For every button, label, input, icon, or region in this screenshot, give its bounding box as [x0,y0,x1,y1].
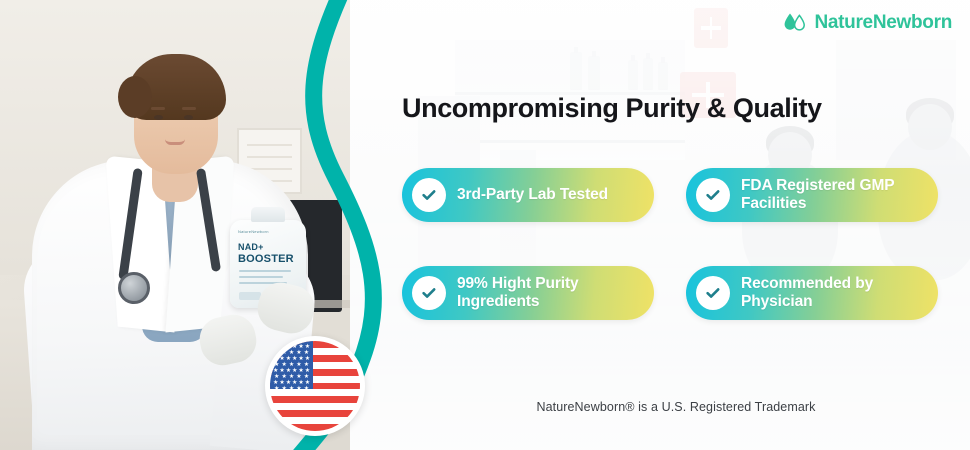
trust-badge-label: 99% Hight Purity Ingredients [457,275,654,312]
check-circle-icon [412,178,446,212]
check-circle-icon [696,178,730,212]
doctor-eye [184,115,193,120]
trust-badge-fda-gmp[interactable]: FDA Registered GMP Facilities [686,168,938,222]
check-circle-icon [696,276,730,310]
bottle-product-line2: BOOSTER [238,253,294,265]
flag-canton: ★★★★★★ ★★★★★ ★★★★★★ ★★★★★ ★★★★★★ ★★★★★ ★… [270,341,313,389]
trust-badge-label: FDA Registered GMP Facilities [741,177,938,214]
us-flag-badge: ★★★★★★ ★★★★★ ★★★★★★ ★★★★★ ★★★★★★ ★★★★★ ★… [265,336,365,436]
trust-badge-grid: 3rd-Party Lab Tested FDA Registered GMP … [402,168,950,320]
brand-name: NatureNewborn [814,12,952,34]
promo-banner: NatureNewborn NAD+ BOOSTER NatureNewborn… [0,0,970,450]
doctor-hair-bun [118,76,152,118]
trademark-notice: NatureNewborn® is a U.S. Registered Trad… [402,400,950,414]
doctor-eyebrow [151,107,165,110]
trust-badge-label: Recommended by Physician [741,275,938,312]
trust-badge-physician[interactable]: Recommended by Physician [686,266,938,320]
trust-badge-purity[interactable]: 99% Hight Purity Ingredients [402,266,654,320]
stethoscope-chestpiece [118,272,150,304]
page-title: Uncompromising Purity & Quality [402,93,942,124]
trust-badge-label: 3rd-Party Lab Tested [457,186,608,204]
droplet-pair-icon [783,12,807,34]
check-circle-icon [412,276,446,310]
doctor-eyebrow [182,107,196,110]
trust-badge-lab-tested[interactable]: 3rd-Party Lab Tested [402,168,654,222]
doctor-eye [154,115,163,120]
bottle-cap [251,207,285,222]
bottle-product-line1: NAD+ [238,242,264,252]
bottle-brand-text: NatureNewborn [238,229,269,234]
doctor-mouth [165,139,185,145]
brand-logo[interactable]: NatureNewborn [783,12,952,34]
